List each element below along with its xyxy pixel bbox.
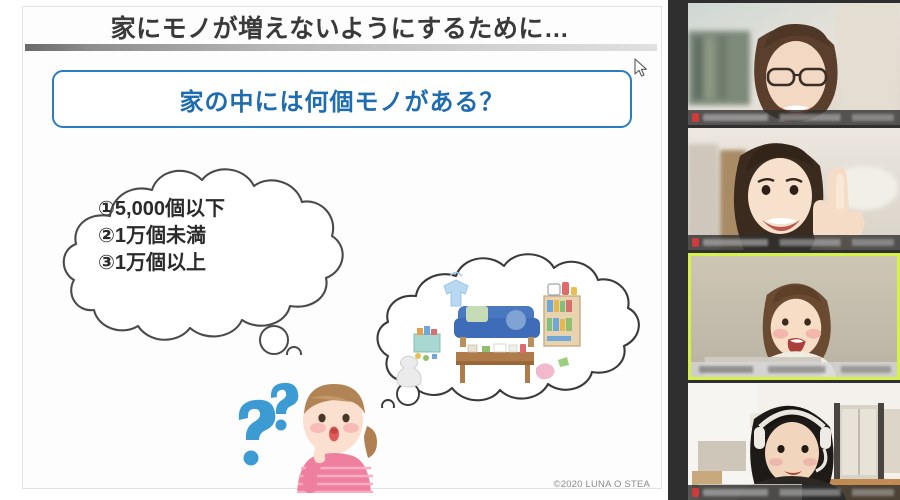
mic-muted-icon (692, 488, 699, 497)
answer-option-2: ②1万個未満 (98, 223, 338, 250)
mouse-cursor-icon (634, 58, 648, 78)
answer-option-3: ③1万個以上 (98, 250, 338, 277)
answer-option-1: ①5,000個以下 (98, 196, 338, 223)
question-mark-small-icon (271, 383, 298, 431)
participant-name-label-4 (703, 489, 894, 496)
participant-name-label-1 (703, 114, 894, 121)
bookshelf-illustration-icon (544, 282, 580, 346)
participant-video-strip (668, 0, 900, 500)
face-1 (754, 24, 837, 122)
answers-thought-bubble: ①5,000個以下 ②1万個未満 ③1万個以上 (58, 160, 368, 355)
video-thumbnail-3 (691, 256, 897, 379)
mic-muted-icon (692, 113, 699, 122)
copyright-notice: ©2020 LUNA O STEA (500, 479, 650, 490)
trash-bag-illustration-icon (397, 356, 421, 387)
toybox-illustration-icon (414, 326, 440, 361)
answer-list: ①5,000個以下 ②1万個未満 ③1万個以上 (98, 196, 338, 278)
mic-muted-icon (692, 238, 699, 247)
question-mark-large-icon (239, 400, 276, 466)
video-tile-4[interactable] (688, 383, 900, 500)
room-thought-bubble (372, 248, 662, 408)
participant-name-bar-4 (688, 485, 900, 500)
slide-title: 家にモノが増えないようにするために… (40, 10, 640, 44)
shared-screen-slide[interactable]: 家にモノが増えないようにするために… 家の中には何個モノがある？ ①5,000個… (0, 0, 668, 500)
video-tile-3[interactable] (688, 253, 900, 380)
video-tile-2[interactable] (688, 128, 900, 250)
participant-name-bar-2 (688, 235, 900, 250)
video-thumbnail-1 (688, 3, 900, 125)
title-divider-rule (25, 44, 657, 51)
video-thumbnail-2 (688, 128, 900, 250)
participant-name-bar-1 (688, 110, 900, 125)
video-thumbnail-4 (688, 383, 900, 500)
face-2 (734, 143, 823, 250)
video-tile-1[interactable] (688, 3, 900, 125)
question-callout-text: 家の中には何個モノがある？ (180, 82, 505, 117)
question-callout-box: 家の中には何個モノがある？ (52, 70, 632, 128)
participant-name-bar-3 (691, 362, 897, 377)
meeting-screen: 家にモノが増えないようにするために… 家の中には何個モノがある？ ①5,000個… (0, 0, 900, 500)
participant-name-label-3 (699, 366, 891, 373)
woman-thinking-icon (297, 384, 377, 493)
room-thought-bubble-shape-icon (372, 248, 662, 408)
participant-name-label-2 (703, 239, 894, 246)
character-illustration-icon (215, 368, 390, 493)
thinking-character-illustration (215, 368, 390, 493)
